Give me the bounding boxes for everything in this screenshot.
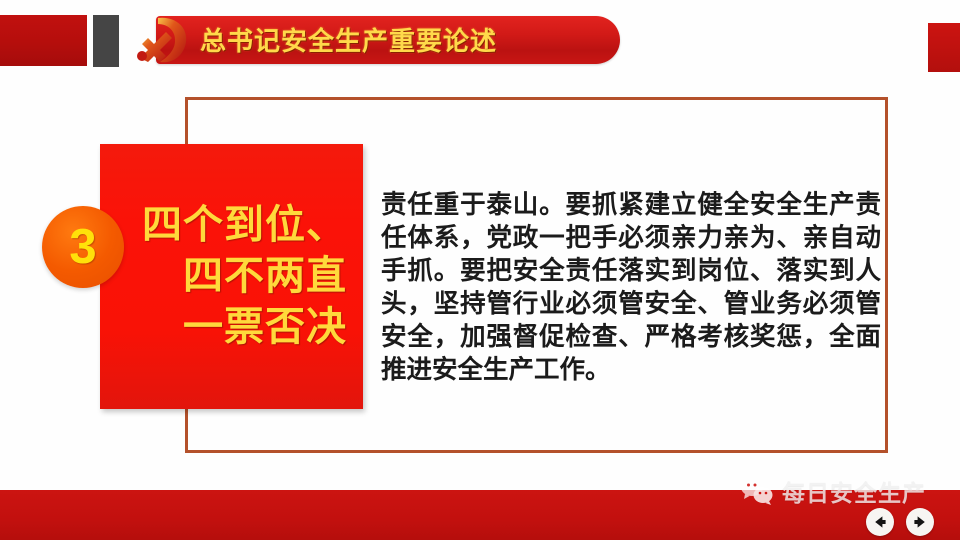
watermark-label: 每日安全生产 [782, 474, 926, 508]
headline-box: 四个到位、 四不两直 一票否决 [100, 144, 363, 409]
header-right-red-block [928, 23, 960, 72]
arrow-left-icon [872, 514, 888, 530]
section-number-label: 3 [69, 223, 96, 272]
section-number-badge: 3 [42, 206, 124, 288]
page-title: 总书记安全生产重要论述 [200, 22, 620, 60]
headline-line-1: 四个到位、 [142, 200, 347, 251]
party-hammer-sickle-emblem-icon [128, 12, 194, 74]
slide-nav-buttons[interactable] [866, 508, 950, 536]
wechat-icon [740, 476, 774, 506]
headline-line-3: 一票否决 [183, 302, 347, 353]
body-paragraph: 责任重于泰山。要抓紧建立健全安全生产责任体系，党政一把手必须亲力亲为、亲自动手抓… [381, 189, 881, 387]
header-left-red-block [0, 15, 87, 66]
next-slide-button[interactable] [906, 508, 934, 536]
prev-slide-button[interactable] [866, 508, 894, 536]
header-dark-gray-block [93, 15, 119, 67]
watermark: 每日安全生产 [740, 470, 940, 512]
headline-line-2: 四不两直 [183, 251, 347, 302]
slide-canvas: 总书记安全生产重要论述 四个到位、 四不两直 一票否决 3 责任重于泰山。要抓紧… [0, 0, 960, 540]
arrow-right-icon [912, 514, 928, 530]
